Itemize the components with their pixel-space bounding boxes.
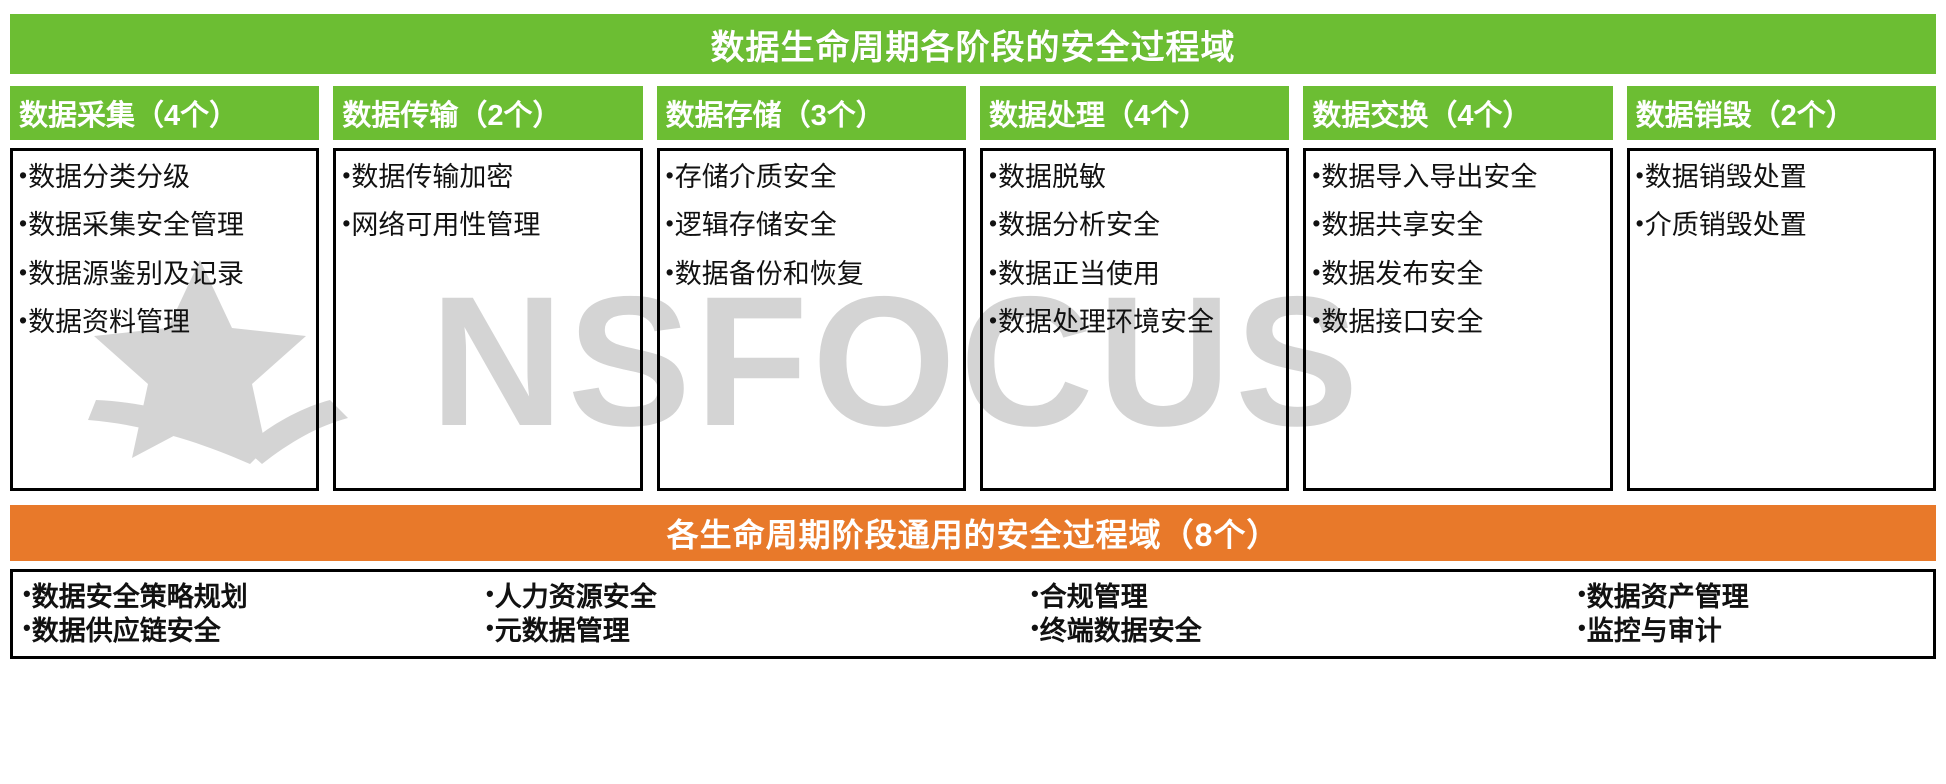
bullet-icon: • <box>1312 163 1320 188</box>
column-body: • 数据脱敏 • 数据分析安全 • 数据正当使用 • 数据处理环境安全 <box>980 148 1289 491</box>
list-item-label: 数据脱敏 <box>998 163 1106 191</box>
list-item-label: 数据接口安全 <box>1321 308 1483 336</box>
list-item: • 数据销毁处置 <box>1636 163 1927 191</box>
list-item-label: 数据发布安全 <box>1321 260 1483 288</box>
list-item-label: 数据资料管理 <box>28 308 190 336</box>
column-header: 数据处理（4个） <box>980 86 1289 140</box>
column-body: • 数据导入导出安全 • 数据共享安全 • 数据发布安全 • 数据接口安全 <box>1303 148 1612 491</box>
bullet-icon: • <box>989 211 997 236</box>
bullet-icon: • <box>989 260 997 285</box>
column-header: 数据交换（4个） <box>1303 86 1612 140</box>
list-item-label: 数据传输加密 <box>351 163 513 191</box>
list-item-label: 数据正当使用 <box>998 260 1160 288</box>
list-item: • 数据共享安全 <box>1312 211 1603 239</box>
list-item: • 人力资源安全 <box>486 582 841 612</box>
list-item-label: 介质销毁处置 <box>1645 211 1807 239</box>
column-data-processing: 数据处理（4个） • 数据脱敏 • 数据分析安全 • 数据正当使用 • 数据处理… <box>980 86 1289 491</box>
common-process-box: • 数据安全策略规划 • 数据供应链安全 • 人力资源安全 • 元数据管理 • … <box>10 569 1936 659</box>
list-item-label: 存储介质安全 <box>675 163 837 191</box>
bullet-icon: • <box>342 211 350 236</box>
bullet-icon: • <box>19 211 27 236</box>
main-title-banner: 数据生命周期各阶段的安全过程域 <box>10 14 1936 74</box>
list-item-label: 数据销毁处置 <box>1645 163 1807 191</box>
list-item: • 数据备份和恢复 <box>666 260 957 288</box>
bullet-icon: • <box>19 163 27 188</box>
list-item-label: 数据源鉴别及记录 <box>28 260 244 288</box>
column-body: • 数据分类分级 • 数据采集安全管理 • 数据源鉴别及记录 • 数据资料管理 <box>10 148 319 491</box>
list-item: • 数据正当使用 <box>989 260 1280 288</box>
list-item: • 合规管理 <box>1031 582 1386 612</box>
list-item: • 数据发布安全 <box>1312 260 1603 288</box>
list-item-label: 数据处理环境安全 <box>998 308 1214 336</box>
common-group: • 数据安全策略规划 • 数据供应链安全 <box>13 582 378 646</box>
list-item-label: 数据分析安全 <box>998 211 1160 239</box>
bullet-icon: • <box>989 308 997 333</box>
column-header: 数据采集（4个） <box>10 86 319 140</box>
list-item-label: 逻辑存储安全 <box>675 211 837 239</box>
list-item: • 数据资料管理 <box>19 308 310 336</box>
column-data-destruction: 数据销毁（2个） • 数据销毁处置 • 介质销毁处置 <box>1627 86 1936 491</box>
list-item: • 终端数据安全 <box>1031 616 1386 646</box>
list-item: • 数据源鉴别及记录 <box>19 260 310 288</box>
list-item-label: 数据供应链安全 <box>32 616 221 646</box>
common-group: • 合规管理 • 终端数据安全 <box>841 582 1386 646</box>
list-item-label: 终端数据安全 <box>1040 616 1202 646</box>
column-body: • 数据传输加密 • 网络可用性管理 <box>333 148 642 491</box>
column-data-transmission: 数据传输（2个） • 数据传输加密 • 网络可用性管理 <box>333 86 642 491</box>
column-header: 数据销毁（2个） <box>1627 86 1936 140</box>
bullet-icon: • <box>342 163 350 188</box>
list-item-label: 合规管理 <box>1040 582 1148 612</box>
list-item: • 介质销毁处置 <box>1636 211 1927 239</box>
bullet-icon: • <box>666 260 674 285</box>
list-item-label: 人力资源安全 <box>495 582 657 612</box>
column-header: 数据传输（2个） <box>333 86 642 140</box>
list-item: • 数据安全策略规划 <box>23 582 378 612</box>
column-data-storage: 数据存储（3个） • 存储介质安全 • 逻辑存储安全 • 数据备份和恢复 <box>657 86 966 491</box>
list-item-label: 数据资产管理 <box>1587 582 1749 612</box>
bullet-icon: • <box>1031 616 1039 640</box>
column-body: • 数据销毁处置 • 介质销毁处置 <box>1627 148 1936 491</box>
bullet-icon: • <box>1636 163 1644 188</box>
list-item: • 数据接口安全 <box>1312 308 1603 336</box>
bullet-icon: • <box>989 163 997 188</box>
list-item-label: 数据分类分级 <box>28 163 190 191</box>
bullet-icon: • <box>1636 211 1644 236</box>
list-item-label: 数据共享安全 <box>1321 211 1483 239</box>
common-group: • 数据资产管理 • 监控与审计 <box>1386 582 1933 646</box>
bullet-icon: • <box>19 308 27 333</box>
list-item: • 数据资产管理 <box>1578 582 1933 612</box>
bullet-icon: • <box>486 616 494 640</box>
column-data-collection: 数据采集（4个） • 数据分类分级 • 数据采集安全管理 • 数据源鉴别及记录 … <box>10 86 319 491</box>
bullet-icon: • <box>1578 582 1586 606</box>
list-item: • 元数据管理 <box>486 616 841 646</box>
bullet-icon: • <box>1312 308 1320 333</box>
column-data-exchange: 数据交换（4个） • 数据导入导出安全 • 数据共享安全 • 数据发布安全 • … <box>1303 86 1612 491</box>
bullet-icon: • <box>1031 582 1039 606</box>
list-item: • 存储介质安全 <box>666 163 957 191</box>
diagram-page: 数据生命周期各阶段的安全过程域 数据采集（4个） • 数据分类分级 • 数据采集… <box>0 0 1946 784</box>
list-item-label: 网络可用性管理 <box>351 211 540 239</box>
bullet-icon: • <box>23 582 31 606</box>
list-item: • 数据传输加密 <box>342 163 633 191</box>
list-item: • 数据脱敏 <box>989 163 1280 191</box>
list-item: • 监控与审计 <box>1578 616 1933 646</box>
column-header: 数据存储（3个） <box>657 86 966 140</box>
list-item: • 数据供应链安全 <box>23 616 378 646</box>
list-item: • 数据采集安全管理 <box>19 211 310 239</box>
bullet-icon: • <box>666 163 674 188</box>
bullet-icon: • <box>19 260 27 285</box>
list-item: • 数据分析安全 <box>989 211 1280 239</box>
column-body: • 存储介质安全 • 逻辑存储安全 • 数据备份和恢复 <box>657 148 966 491</box>
list-item-label: 数据备份和恢复 <box>675 260 864 288</box>
list-item-label: 监控与审计 <box>1587 616 1722 646</box>
list-item: • 数据处理环境安全 <box>989 308 1280 336</box>
common-group: • 人力资源安全 • 元数据管理 <box>378 582 841 646</box>
bullet-icon: • <box>486 582 494 606</box>
list-item: • 网络可用性管理 <box>342 211 633 239</box>
bullet-icon: • <box>23 616 31 640</box>
list-item: • 数据导入导出安全 <box>1312 163 1603 191</box>
list-item: • 逻辑存储安全 <box>666 211 957 239</box>
bullet-icon: • <box>1312 260 1320 285</box>
bullet-icon: • <box>1578 616 1586 640</box>
bullet-icon: • <box>666 211 674 236</box>
common-process-banner: 各生命周期阶段通用的安全过程域（8个） <box>10 505 1936 561</box>
bullet-icon: • <box>1312 211 1320 236</box>
list-item: • 数据分类分级 <box>19 163 310 191</box>
lifecycle-columns: 数据采集（4个） • 数据分类分级 • 数据采集安全管理 • 数据源鉴别及记录 … <box>10 86 1936 491</box>
list-item-label: 数据采集安全管理 <box>28 211 244 239</box>
list-item-label: 数据导入导出安全 <box>1321 163 1537 191</box>
list-item-label: 元数据管理 <box>495 616 630 646</box>
list-item-label: 数据安全策略规划 <box>32 582 248 612</box>
